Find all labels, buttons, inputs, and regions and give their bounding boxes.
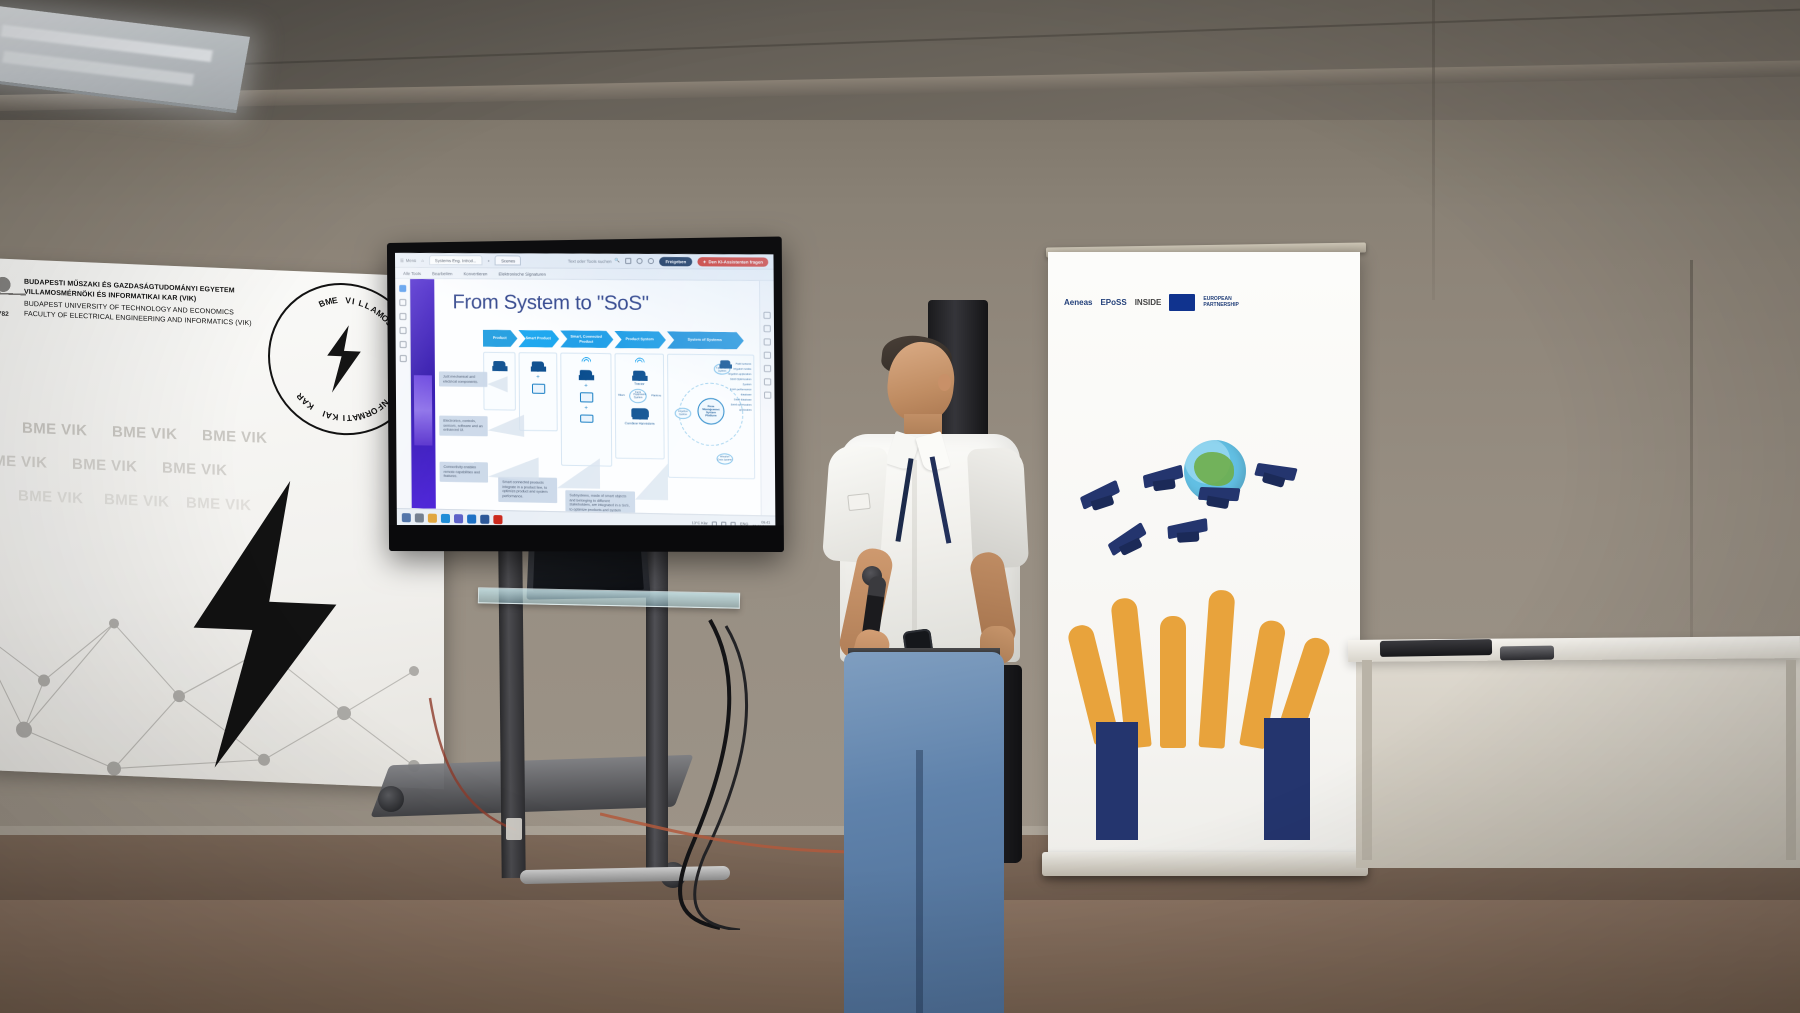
maturity-stage-chevrons: Product Smart Product Smart, Connected P… [483,330,744,350]
slide-sidebar-photo [414,375,433,445]
logo-european-partnership: EUROPEAN PARTNERSHIP [1203,296,1261,308]
sos-side-farm-performance: Farm performance database [726,387,751,398]
tractor-icon [578,369,593,380]
ring-letter: V [345,295,351,305]
person-silhouette [1096,722,1138,840]
menu-elektronische-signaturen[interactable]: Elektronische Signaturen [499,271,546,276]
tractor-icon [632,370,648,381]
pdf-slide-page: Innovative Industry Association From Sys… [410,279,761,515]
word-icon[interactable] [480,514,489,523]
bme-vik-watermark: BME VIK [0,452,47,472]
sparkle-icon: ✦ [703,259,707,264]
home-icon[interactable]: ⌂ [421,258,424,263]
remote-secondary[interactable] [1500,646,1554,661]
lightning-bolt-icon-small [314,324,374,395]
search-placeholder: Text oder Tools suchen [568,258,612,263]
slide-sidebar: Innovative Industry Association [410,279,436,509]
name-badge [847,493,871,511]
thumbnail-icon[interactable] [399,285,406,292]
raised-hands-group [1072,572,1342,762]
graduation-cap-icon [1167,520,1213,549]
crop-icon[interactable] [399,341,406,348]
stage-smart-product: Smart Product [518,330,559,348]
ai-icon[interactable] [763,312,770,319]
comment-icon[interactable] [625,258,631,264]
harvester-icon [631,408,649,417]
stage-cards: + + + Tractor [483,352,755,480]
callout-connectivity: Connectivity enables remote capabilities… [440,462,489,483]
logo-inside: INSIDE [1135,298,1162,307]
card-smart-product: + [519,352,558,431]
export-icon[interactable] [764,325,771,332]
graduation-cap-icon [1196,484,1246,518]
acrobat-right-rail [759,281,775,516]
tv-screen-content: ☰ Menü ⌂ Systems Eng. Introd... + Scenes… [395,253,775,533]
bme-vik-watermark: BME VIK [112,423,177,443]
table-leg [1362,660,1372,860]
menu-button[interactable]: ☰ Menü [400,257,416,262]
menu-bearbeiten[interactable]: Bearbeiten [432,271,452,276]
document-tab-1[interactable]: Systems Eng. Introd... [429,255,483,265]
share-button[interactable]: Freigeben [659,257,692,266]
start-icon[interactable] [402,513,411,522]
table-leg [1786,660,1796,860]
more-icon[interactable] [764,392,771,399]
power-cable [420,690,640,870]
banner-bottom-rail [1042,852,1368,876]
sos-hub-farm-management: Farm Management System Platform [697,398,724,425]
cloud-icon [580,415,593,423]
card-product-system: Tractor Tillers Farm Equipment System Pl… [614,353,664,459]
hamburger-icon: ☰ [400,257,404,262]
sos-side-seed-opt-app: Seed optimization application [726,402,751,413]
label-tillers: Tillers [618,394,625,397]
search-icon[interactable] [415,513,424,522]
shirt-placket [912,460,917,656]
ai-assistant-label: Den KI-Assistenten fragen [708,259,763,264]
logo-aeneas: Aeneas [1064,298,1092,307]
graduation-cap-icon [1079,482,1125,519]
side-table-apron [1356,658,1800,868]
device-icon [531,384,544,394]
presentation-remote[interactable] [1380,639,1492,657]
upload-icon[interactable] [637,258,643,264]
bme-crest-icon [0,266,26,310]
edit-icon[interactable] [764,338,771,345]
stage-product: Product [483,330,518,347]
hand-icon [1160,616,1186,748]
sponsor-logo-row: Aeneas EPoSS INSIDE EUROPEAN PARTNERSHIP [1064,284,1344,320]
plus-sign: + [520,374,557,380]
comment-icon[interactable] [399,327,406,334]
outlook-icon[interactable] [467,514,476,523]
compress-icon[interactable] [764,378,771,385]
graduation-cap-icon [1142,467,1185,498]
search-icon[interactable] [399,299,406,306]
sos-side-seed-optimization: Seed Optimization System [726,377,751,388]
stage-product-system: Product System [614,331,666,349]
presenter-jeans [844,652,1004,1013]
label-combine-harvesters: Combine Harvesters [616,422,663,427]
wall-seam-right [1690,260,1693,680]
bme-vik-banner: BME 1782 BUDAPESTI MŰSZAKI ÉS GAZDASÁGTU… [0,258,444,789]
card-system-of-systems: Farm Management System Platform Farm Equ… [667,354,755,480]
tv-bottom-bezel [389,525,784,552]
document-tab-2[interactable]: Scenes [495,255,521,265]
conference-room-photo: BME 1782 BUDAPESTI MŰSZAKI ÉS GAZDASÁGTU… [0,0,1800,1013]
bme-vik-watermark: BME VIK [18,487,83,507]
presenter-ear [938,374,951,391]
acrobat-left-rail [395,279,412,508]
display-tv: ☰ Menü ⌂ Systems Eng. Introd... + Scenes… [387,236,784,552]
label-planters: Planters [651,394,661,397]
ring-letter: K [332,412,339,423]
ring-letter: E [331,295,339,306]
new-tab-button[interactable]: + [487,258,490,263]
graduation-cap-icon [1106,525,1153,566]
label-farm-equipment-system: Farm Equipment System [629,389,647,403]
card-product [483,352,516,411]
bme-vik-watermark: BME VIK [22,420,87,440]
wifi-icon [581,357,590,362]
sos-side-list: Field sensors Irrigation nodes Irrigatio… [726,361,751,412]
cart-caster [378,786,404,812]
wall-seam-left [1432,0,1435,300]
print-icon[interactable] [648,258,654,264]
menu-label: Menü [406,257,417,262]
lightning-bolt-icon-large [160,475,370,774]
plus-sign: + [561,383,610,390]
callout-electronics: Electronics, controls, sensors, software… [439,416,488,437]
sign-icon[interactable] [399,313,406,320]
jeans-inseam [916,750,923,1013]
eu-flag-icon [1169,294,1195,311]
bme-university-name: BUDAPESTI MŰSZAKI ÉS GAZDASÁGTUDOMÁNYI E… [24,278,284,331]
sos-node-weather-data: Weather Data System [716,453,733,465]
ring-letter: I [351,296,355,306]
comment-icon[interactable] [764,352,771,359]
plus-sign: + [562,405,611,412]
menu-konvertieren[interactable]: Konvertieren [463,271,487,276]
sign-icon[interactable] [764,365,771,372]
wifi-icon [635,357,644,362]
sos-node-irrigation: Irrigation System [675,408,692,419]
explorer-icon[interactable] [428,513,437,522]
ring-letter: I [343,413,346,423]
graduation-cap-icon [1251,460,1302,498]
search-field[interactable]: Text oder Tools suchen 🔍 [568,258,620,264]
slide-title: From System to "SoS" [452,291,648,316]
logo-eposs: EPoSS [1100,298,1126,307]
callout-productline: Smart connected products integrate in a … [498,477,557,503]
device-icon [579,392,592,402]
ai-assistant-button[interactable]: ✦ Den KI-Assistenten fragen [698,257,769,267]
tractor-icon [492,360,507,371]
shirt-sleeve-right [967,447,1029,570]
search-icon: 🔍 [615,258,620,264]
stage-system-of-systems: System of Systems [667,331,744,349]
stage-smart-connected: Smart, Connected Product [560,330,613,348]
card-smart-connected: + + [560,353,612,467]
callout-mechanical: Just mechanical and electrical component… [439,371,487,387]
menu-alle-tools[interactable]: Alle Tools [403,270,421,275]
presenter [820,330,1060,1013]
bme-vik-watermark: BME VIK [72,456,137,476]
toolbar-icons [625,258,654,264]
bme-vik-watermark: BME VIK [202,427,267,447]
bme-crest-text: BME 1782 [0,310,9,318]
summer-school-banner: Aeneas EPoSS INSIDE EUROPEAN PARTNERSHIP [1048,252,1360,872]
tractor-icon [530,360,545,371]
person-silhouette [1264,718,1310,840]
text-icon[interactable] [399,355,406,362]
acrobat-icon[interactable] [493,514,502,523]
hand-icon [1199,589,1236,748]
edge-icon[interactable] [441,513,450,522]
teams-icon[interactable] [454,514,463,523]
